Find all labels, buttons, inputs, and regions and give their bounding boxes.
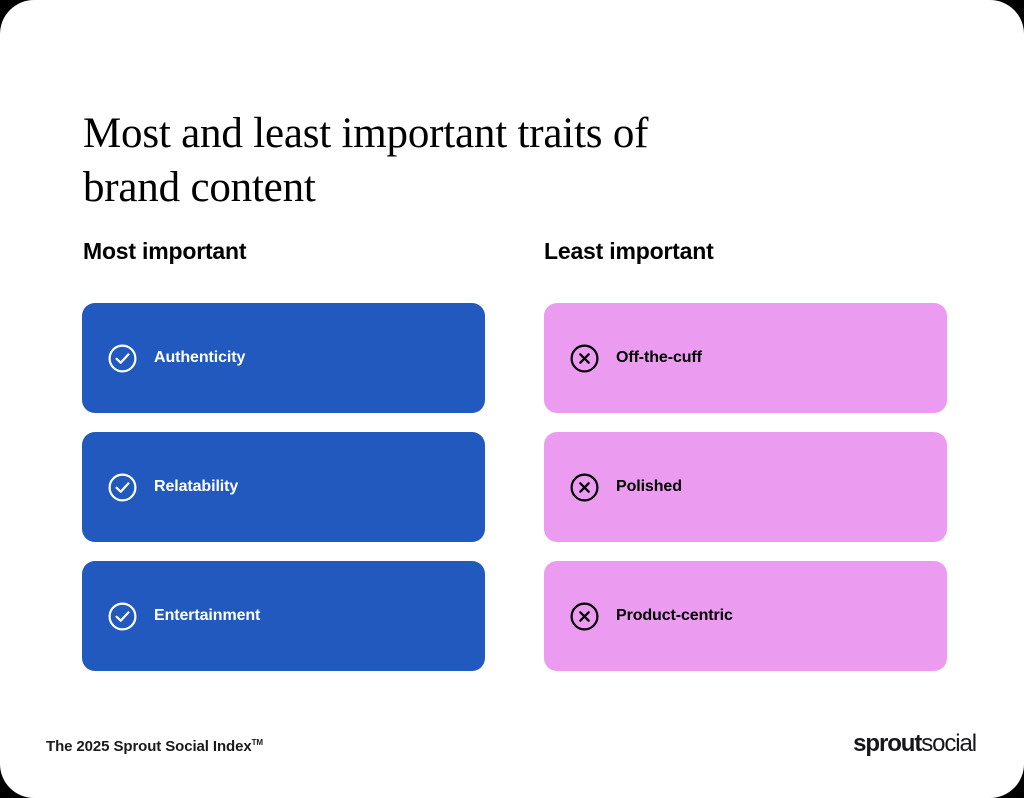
- title-line-1: Most and least important traits of: [83, 107, 843, 161]
- trait-label: Product-centric: [616, 607, 733, 625]
- title-line-2: brand content: [83, 161, 843, 215]
- column-most-important: Authenticity Relatability Entertainment: [82, 303, 485, 671]
- column-header-least-important: Least important: [544, 238, 714, 265]
- trait-label: Polished: [616, 478, 682, 496]
- trait-card-authenticity[interactable]: Authenticity: [82, 303, 485, 413]
- trait-card-entertainment[interactable]: Entertainment: [82, 561, 485, 671]
- trait-card-product-centric[interactable]: Product-centric: [544, 561, 947, 671]
- trait-label: Authenticity: [154, 349, 245, 367]
- check-circle-icon: [108, 344, 137, 373]
- footer-source-text: The 2025 Sprout Social Index: [46, 738, 252, 755]
- check-circle-icon: [108, 602, 137, 631]
- column-least-important: Off-the-cuff Polished Product-centric: [544, 303, 947, 671]
- trademark-symbol: TM: [252, 738, 263, 747]
- logo-word-social: social: [921, 730, 976, 757]
- x-circle-icon: [570, 344, 599, 373]
- trait-label: Relatability: [154, 478, 238, 496]
- logo-word-sprout: sprout: [853, 730, 921, 757]
- trait-label: Entertainment: [154, 607, 260, 625]
- trait-card-polished[interactable]: Polished: [544, 432, 947, 542]
- trait-card-off-the-cuff[interactable]: Off-the-cuff: [544, 303, 947, 413]
- infographic-canvas: Most and least important traits of brand…: [0, 0, 1024, 798]
- x-circle-icon: [570, 602, 599, 631]
- column-header-most-important: Most important: [83, 238, 246, 265]
- footer-source-attribution: The 2025 Sprout Social IndexTM: [46, 738, 263, 755]
- x-circle-icon: [570, 473, 599, 502]
- check-circle-icon: [108, 473, 137, 502]
- page-title: Most and least important traits of brand…: [83, 107, 843, 215]
- trait-label: Off-the-cuff: [616, 349, 702, 367]
- trait-card-relatability[interactable]: Relatability: [82, 432, 485, 542]
- sprout-social-logo: sproutsocial: [853, 730, 976, 758]
